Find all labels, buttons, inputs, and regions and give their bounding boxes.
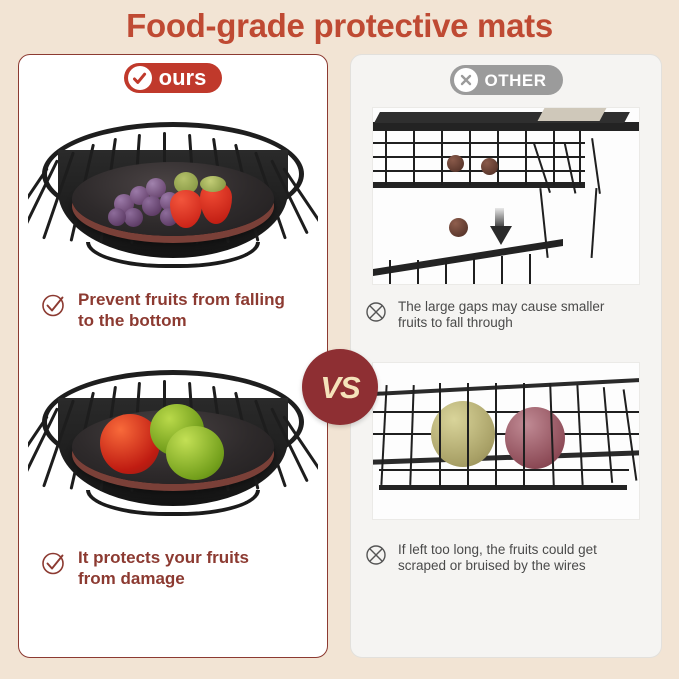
other-feature-2: If left too long, the fruits could get s…	[351, 542, 661, 575]
basket-foot	[86, 490, 260, 516]
rack-wire	[379, 469, 629, 471]
rack-wire	[413, 131, 415, 185]
rack-light-object	[538, 108, 607, 121]
rack-wire	[495, 383, 497, 487]
ours-feature-2-text: It protects your fruits from damage	[78, 548, 249, 589]
rack-wire	[579, 131, 581, 185]
ours-feature-2-line2: from damage	[78, 569, 185, 588]
rack-wire	[523, 383, 525, 487]
check-circle-icon	[128, 66, 152, 90]
other-badge-label: OTHER	[485, 72, 547, 89]
other-badge-row: OTHER	[351, 55, 661, 105]
other-feature-2-line1: If left too long, the fruits could get	[398, 542, 597, 557]
competitor-rack-illustration	[373, 108, 639, 284]
rack-mid-frame	[373, 450, 640, 464]
lower-basket-rim	[373, 239, 563, 276]
ours-product-image-1	[28, 103, 318, 278]
ours-feature-1-line1: Prevent fruits from falling	[78, 290, 285, 309]
rack-wire	[553, 131, 555, 185]
other-feature-1-line2: fruits to fall through	[398, 315, 513, 330]
rack-wire	[441, 131, 443, 185]
ours-badge-label: ours	[159, 67, 207, 89]
other-panel: OTHER	[350, 54, 662, 658]
rack-wire	[389, 260, 391, 285]
rack-wire	[467, 383, 469, 487]
ours-badge: ours	[124, 63, 223, 93]
grape	[124, 208, 143, 227]
ours-feature-1-line2: to the bottom	[78, 311, 187, 330]
vs-badge: VS	[302, 349, 378, 425]
rack-bottom-frame	[379, 485, 627, 490]
wire-basket-illustration	[42, 364, 304, 514]
rack-side-wire	[591, 138, 601, 194]
basket-foot	[86, 242, 260, 268]
other-feature-1-line1: The large gaps may cause smaller	[398, 299, 604, 314]
ours-feature-1: Prevent fruits from falling to the botto…	[19, 290, 327, 331]
rack-wire	[501, 256, 503, 285]
falling-fruit	[449, 218, 468, 237]
other-product-image-2	[372, 362, 640, 520]
ours-badge-row: ours	[19, 55, 327, 101]
grape	[142, 196, 162, 216]
other-feature-2-text: If left too long, the fruits could get s…	[398, 542, 597, 575]
other-product-image-1	[372, 107, 640, 285]
rack-wire	[385, 131, 387, 185]
arrow-stem	[495, 208, 504, 228]
page-title: Food-grade protective mats	[0, 0, 679, 48]
rack-wire	[439, 383, 441, 487]
rack-top-bar	[373, 122, 640, 131]
x-circle-outline-icon	[365, 544, 387, 571]
competitor-rack-closeup-illustration	[373, 363, 639, 519]
rack-wire	[473, 258, 475, 285]
check-circle-outline-icon	[41, 550, 67, 581]
rack-wire	[469, 131, 471, 185]
other-badge: OTHER	[450, 65, 563, 95]
rack-wire	[417, 260, 419, 285]
ours-panel: ours	[18, 54, 328, 658]
rack-wire	[445, 260, 447, 285]
x-circle-icon	[454, 68, 478, 92]
ours-feature-1-text: Prevent fruits from falling to the botto…	[78, 290, 285, 331]
vs-label: VS	[320, 372, 359, 403]
check-circle-outline-icon	[41, 292, 67, 323]
small-brown-fruit	[481, 158, 498, 175]
rack-wire	[525, 131, 527, 185]
grape	[108, 208, 126, 226]
other-feature-2-line2: scraped or bruised by the wires	[398, 558, 586, 573]
ours-product-image-2	[28, 351, 318, 526]
rack-wire	[497, 131, 499, 185]
strawberry-leaf	[200, 176, 226, 192]
comparison-container: ours	[0, 48, 679, 668]
other-feature-1: The large gaps may cause smaller fruits …	[351, 299, 661, 332]
wire-basket-illustration	[42, 116, 304, 266]
other-feature-1-text: The large gaps may cause smaller fruits …	[398, 299, 604, 332]
small-brown-fruit	[447, 155, 464, 172]
red-apple	[505, 407, 565, 469]
ours-feature-2: It protects your fruits from damage	[19, 548, 327, 589]
ours-feature-2-line1: It protects your fruits	[78, 548, 249, 567]
x-circle-outline-icon	[365, 301, 387, 328]
rack-support-wire	[591, 188, 598, 258]
rack-wire	[623, 389, 638, 480]
arrow-down-icon	[490, 226, 512, 245]
green-apple	[166, 426, 224, 480]
rack-wire	[529, 254, 531, 285]
